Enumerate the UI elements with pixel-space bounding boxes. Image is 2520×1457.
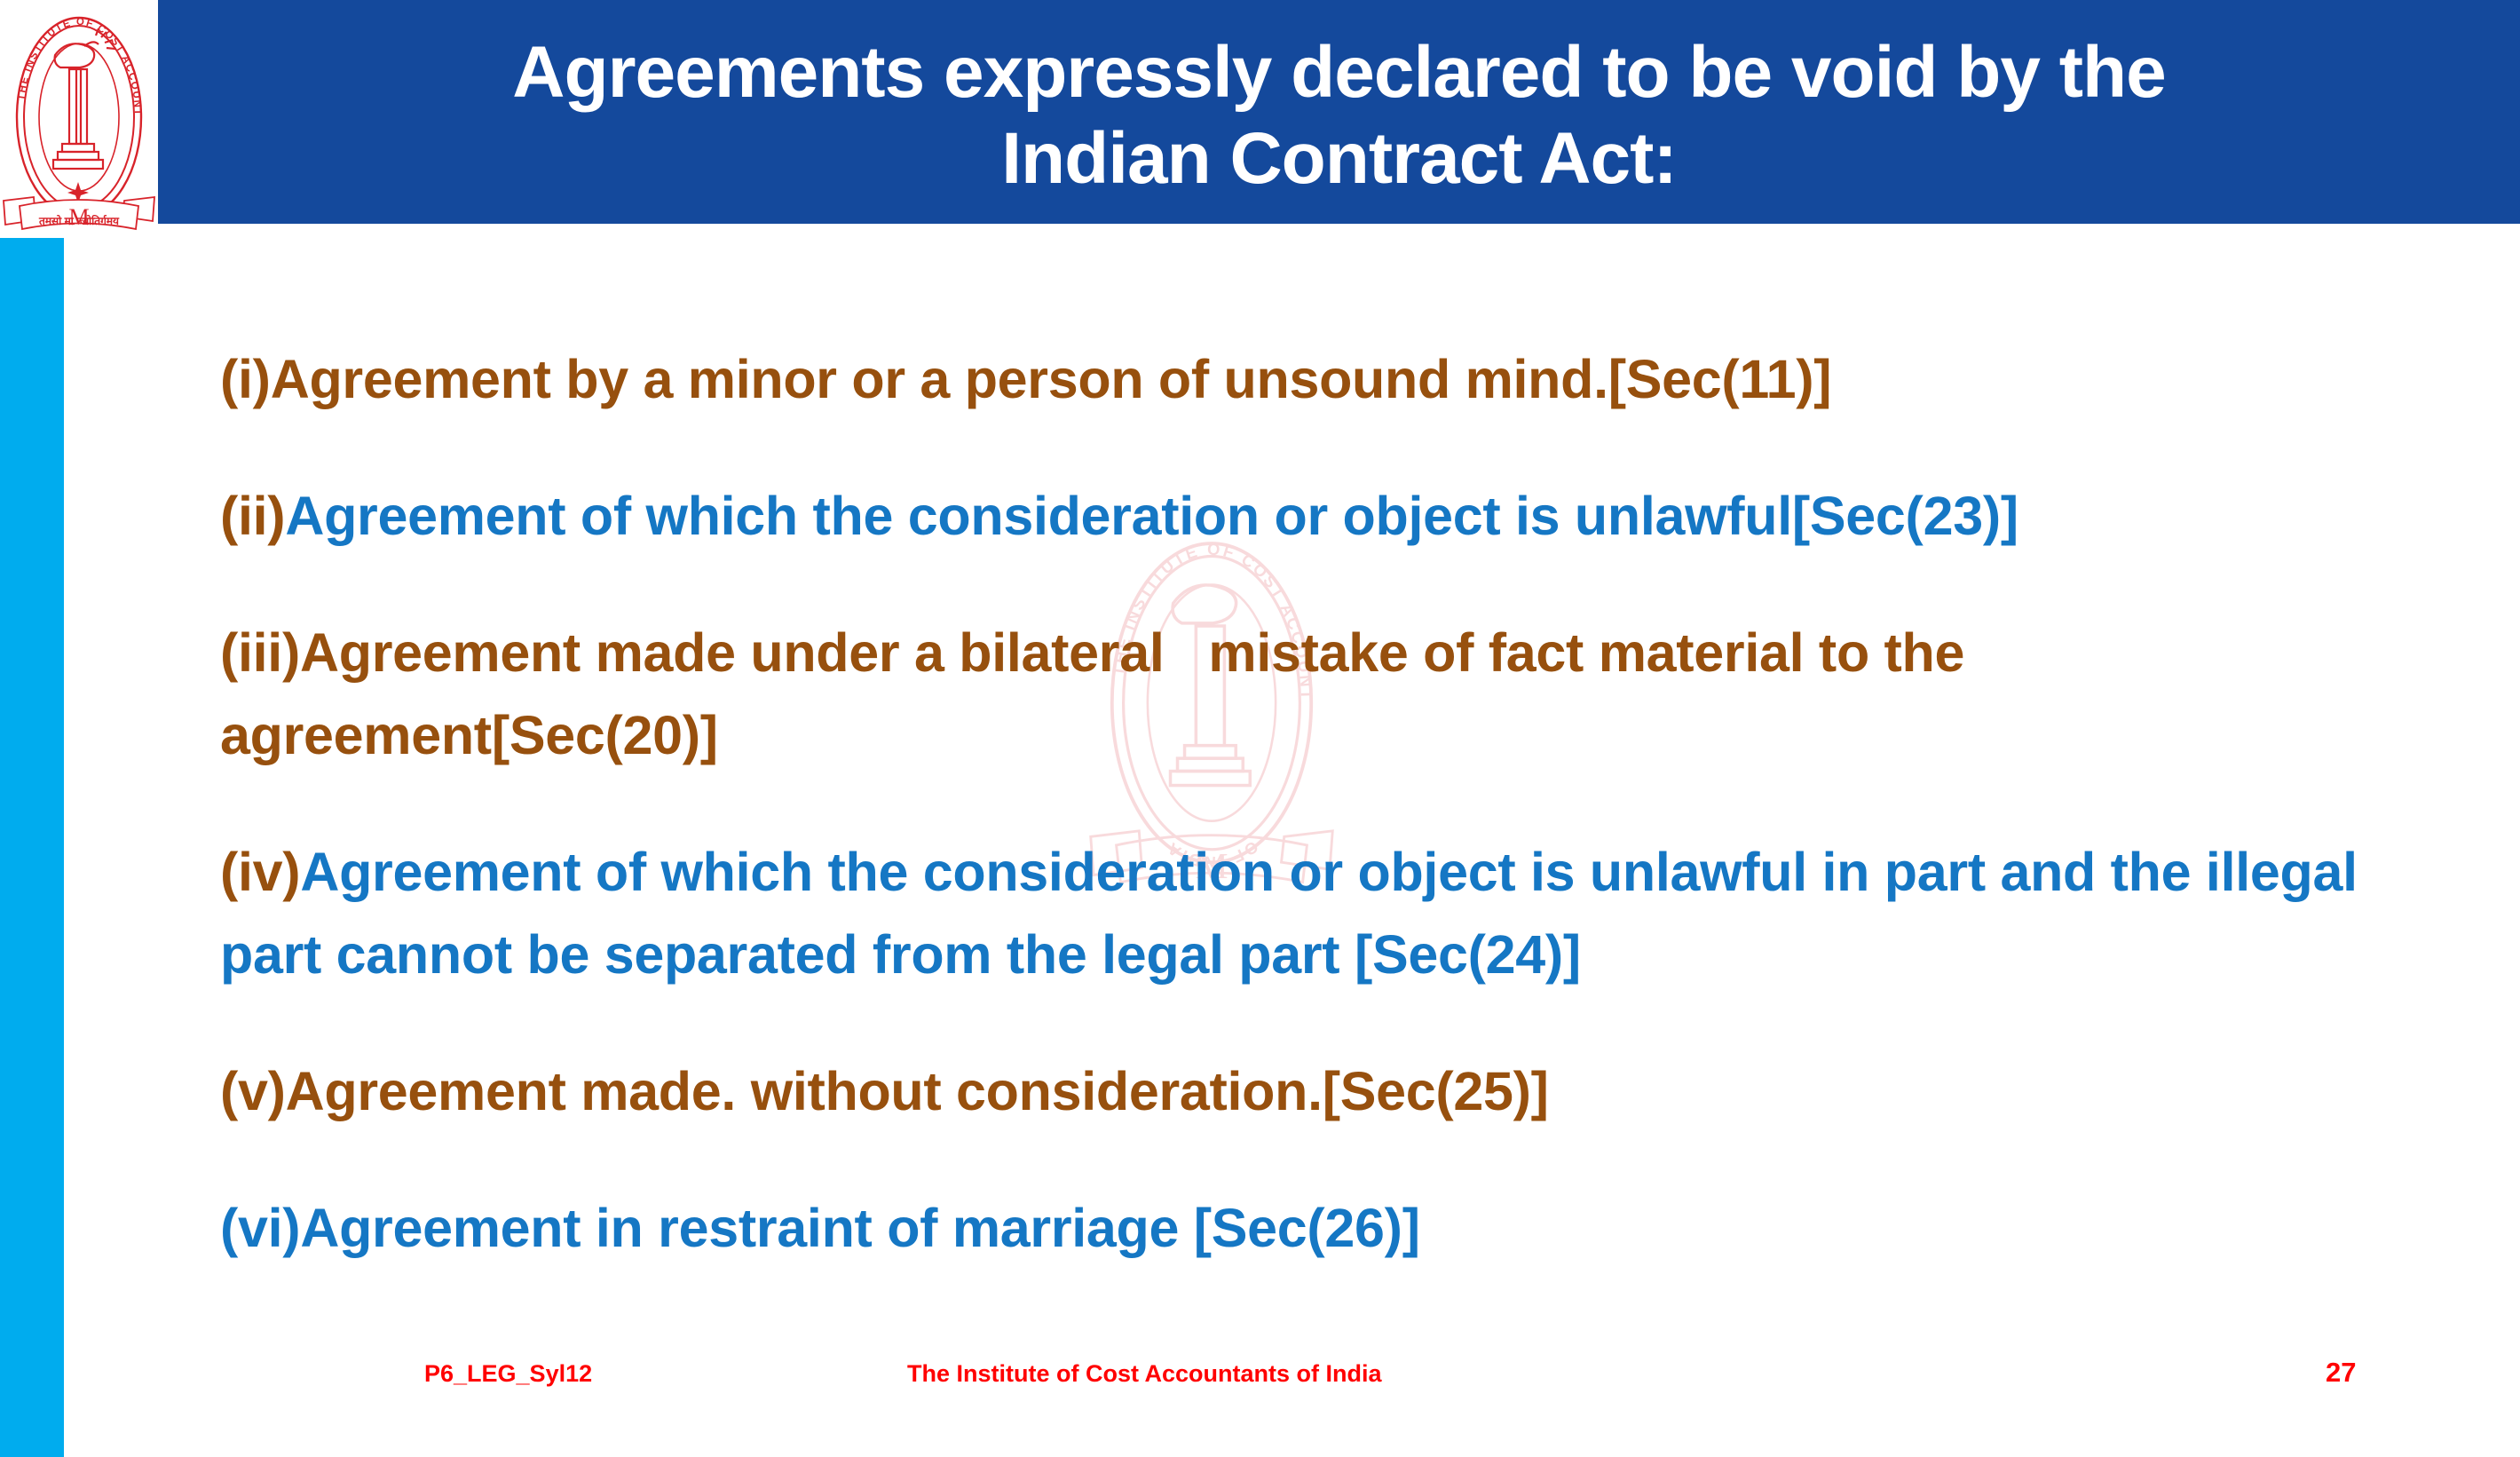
list-item-text: Agreement made. without consideration.[S… [286, 1061, 1549, 1121]
list-item: (vi)Agreement in restraint of marriage [… [220, 1187, 2395, 1270]
void-agreements-list: (i)Agreement by a minor or a person of u… [220, 284, 2395, 1324]
page-title-line-2: Indian Contract Act: [1001, 116, 1677, 202]
list-item: (iii)Agreement made under a bilateral mi… [220, 612, 2395, 777]
list-item-text: Agreement by a minor or a person of unso… [271, 349, 1832, 409]
list-item-marker: (i) [220, 349, 271, 409]
list-item-text: Agreement made under a bilateral mistake… [220, 622, 1979, 765]
svg-text:M: M [68, 204, 89, 230]
list-item-marker: (iii) [220, 622, 300, 683]
left-accent-stripe [0, 238, 64, 1457]
list-item: (i)Agreement by a minor or a person of u… [220, 338, 2395, 421]
list-item-marker: (vi) [220, 1198, 300, 1258]
list-item-text: Agreement in restraint of marriage [Sec(… [300, 1198, 1419, 1258]
list-item: (v)Agreement made. without consideration… [220, 1050, 2395, 1133]
list-item: (iv)Agreement of which the consideration… [220, 831, 2395, 996]
list-item-marker: (iv) [220, 842, 300, 902]
list-item-marker: (ii) [220, 486, 285, 546]
footer-page-number: 27 [2326, 1357, 2356, 1389]
list-item: (ii)Agreement of which the consideration… [220, 475, 2395, 558]
list-item-text: Agreement of which the consideration or … [285, 486, 2018, 546]
page-title: Agreements expressly declared to be void… [158, 9, 2520, 224]
slide-footer: P6_LEG_Syl12 The Institute of Cost Accou… [0, 1355, 2520, 1399]
list-item-text: Agreement of which the consideration or … [220, 842, 2402, 985]
page-title-line-1: Agreements expressly declared to be void… [512, 30, 2165, 116]
footer-subject-code: P6_LEG_Syl12 [424, 1360, 592, 1388]
list-item-marker: (v) [220, 1061, 286, 1121]
footer-organization: The Institute of Cost Accountants of Ind… [907, 1360, 1382, 1388]
institute-logo: THE INSTITUTE OF COST ACCOUNTANTS OF IND… [0, 0, 158, 233]
